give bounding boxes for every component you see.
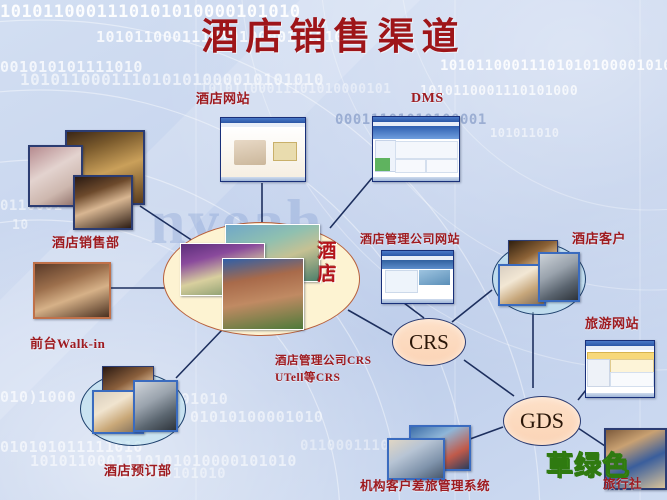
photo-customer-traveler — [538, 252, 580, 302]
link-reservation-to-center — [176, 330, 222, 378]
label-hotel-sales-dept: 酒店销售部 — [52, 236, 120, 251]
page-content — [382, 260, 453, 299]
photo-staff-phone — [73, 175, 133, 230]
site-banner — [373, 126, 459, 139]
screenshot-hotel-website[interactable] — [220, 117, 306, 182]
link-crs-to-gds — [464, 360, 514, 396]
label-hotel-customer: 酒店客户 — [572, 232, 626, 247]
page-content — [221, 127, 305, 177]
hub-crs-label: CRS — [409, 330, 449, 355]
label-front-desk-walkin: 前台Walk-in — [30, 337, 105, 352]
statusbar — [221, 177, 305, 181]
statusbar — [382, 299, 453, 303]
photo-corporate-agent — [387, 438, 445, 480]
label-hotel-reservation-dept: 酒店预订部 — [104, 464, 172, 479]
site-banner — [382, 260, 453, 269]
photo-hotel-building — [222, 258, 304, 330]
label-dms: DMS — [411, 91, 444, 107]
logo-block — [273, 142, 297, 161]
label-green-note: 草绿色 — [546, 444, 630, 483]
center-label-char2: 店 — [316, 266, 338, 285]
content-col-right — [426, 159, 457, 173]
label-crs-note-line1: 酒店管理公司CRS — [275, 355, 372, 368]
link-customer-to-crs — [452, 290, 492, 322]
feature-image — [419, 270, 450, 285]
label-crs-note-line2: UTell等CRS — [275, 372, 340, 385]
link-dms-to-center — [330, 178, 372, 228]
green-badge — [375, 158, 390, 171]
results-panel — [610, 359, 654, 372]
label-travel-website: 旅游网站 — [585, 317, 639, 332]
hub-gds-label: GDS — [520, 408, 564, 434]
slide-canvas: 1010110001110101010000101010101011000111… — [0, 0, 667, 500]
statusbar — [373, 177, 459, 181]
screenshot-mgmt-website[interactable] — [381, 250, 454, 304]
label-hotel-website: 酒店网站 — [196, 92, 250, 107]
page-content — [586, 350, 654, 393]
page-content — [373, 126, 459, 177]
center-label-char1: 酒 — [316, 243, 338, 262]
label-hotel-mgmt-company-website: 酒店管理公司网站 — [360, 233, 460, 247]
photo-front-desk — [33, 262, 111, 319]
hub-gds[interactable]: GDS — [503, 396, 581, 446]
listing-panel — [610, 372, 654, 387]
content-panel — [395, 141, 457, 158]
hero-image — [234, 140, 266, 165]
hub-crs[interactable]: CRS — [392, 318, 466, 366]
link-sales-to-center — [140, 206, 196, 243]
label-corporate-travel-system: 机构客户差旅管理系统 — [360, 479, 490, 493]
photo-businessman — [133, 380, 178, 432]
link-center-to-crs — [348, 310, 392, 335]
content-col-left — [395, 159, 425, 173]
left-column — [385, 270, 418, 293]
screenshot-travel-website[interactable] — [585, 340, 655, 398]
statusbar — [586, 393, 654, 397]
screenshot-dms[interactable] — [372, 116, 460, 182]
sidebar-panel — [587, 359, 609, 387]
